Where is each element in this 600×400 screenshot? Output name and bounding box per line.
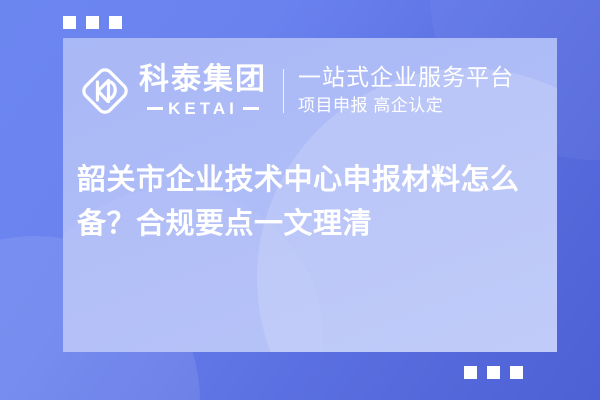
decorative-squares-bottom [464,366,523,379]
decorative-squares-top [63,16,122,29]
ketai-diamond-monogram-icon [77,63,133,119]
brand-header: 科泰集团 KETAI 一站式企业服务平台 项目申报 高企认定 [63,38,557,144]
decorative-square [487,366,500,379]
logo-name-en: KETAI [168,100,238,117]
decorative-square [464,366,477,379]
promo-banner: 科泰集团 KETAI 一站式企业服务平台 项目申报 高企认定 韶关市企业技术中心… [0,0,600,400]
logo-rule-left [147,107,163,110]
logo-name-cn: 科泰集团 [139,65,267,95]
decorative-square [510,366,523,379]
decorative-square [109,16,122,29]
content-card: 科泰集团 KETAI 一站式企业服务平台 项目申报 高企认定 韶关市企业技术中心… [63,38,557,352]
slogan-block: 一站式企业服务平台 项目申报 高企认定 [298,64,514,117]
slogan-main: 一站式企业服务平台 [298,64,514,90]
decorative-square [63,16,76,29]
decorative-square [86,16,99,29]
slogan-sub: 项目申报 高企认定 [298,95,514,118]
article-title: 韶关市企业技术中心申报材料怎么备？合规要点一文理清 [77,158,557,246]
logo-wordmark: 科泰集团 KETAI [139,65,267,117]
logo-rule-right [243,107,259,110]
header-divider [283,69,284,113]
logo-name-en-row: KETAI [147,100,259,117]
